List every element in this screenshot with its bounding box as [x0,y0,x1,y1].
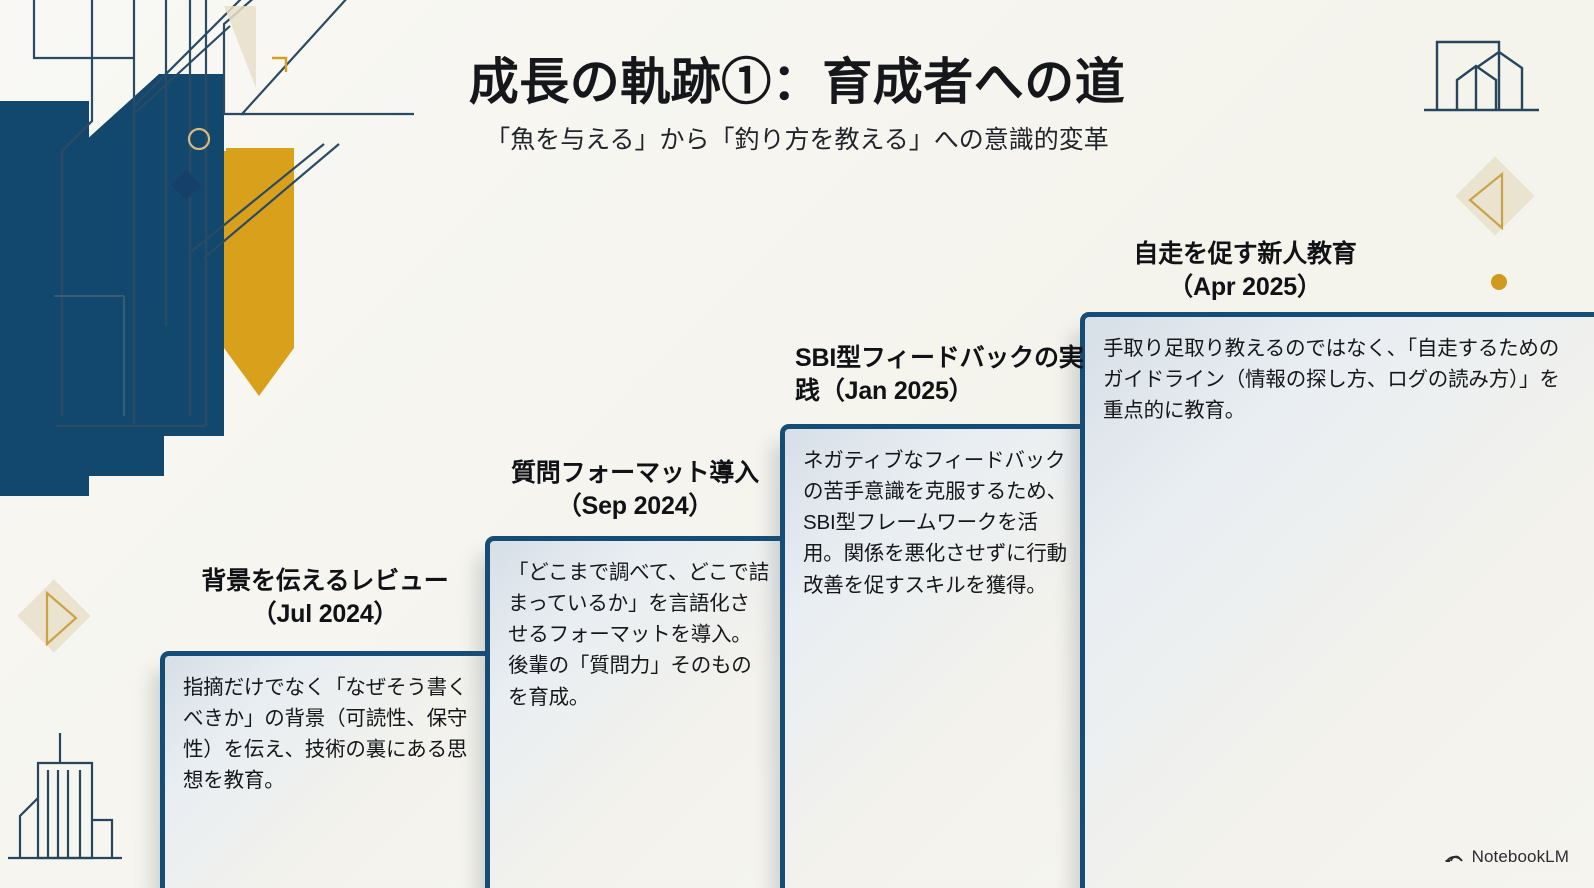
notebooklm-icon [1444,846,1465,868]
notebooklm-watermark: NotebookLM [1435,840,1580,874]
step-title-2: 質問フォーマット導入 [470,457,800,490]
slide-canvas: 成長の軌跡①：育成者への道 「魚を与える」から「釣り方を教える」への意識的変革 … [0,0,1594,888]
slide-header: 成長の軌跡①：育成者への道 「魚を与える」から「釣り方を教える」への意識的変革 [0,52,1594,156]
step-block-2[interactable]: 「どこまで調べて、どこで詰まっているか」を言語化させるフォーマットを導入。後輩の… [485,536,785,888]
step-block-3[interactable]: ネガティブなフィードバックの苦手意識を克服するため、SBI型フレームワークを活用… [780,424,1085,888]
step-body-3: ネガティブなフィードバックの苦手意識を克服するため、SBI型フレームワークを活用… [785,429,1085,601]
step-heading-1: 背景を伝えるレビュー （Jul 2024） [160,565,490,632]
step-body-4: 手取り足取り教えるのではなく、「自走するためのガイドライン（情報の探し方、ログの… [1085,317,1594,426]
step-date-1: （Jul 2024） [160,598,490,631]
step-heading-4: 自走を促す新人教育 （Apr 2025） [1080,238,1410,305]
step-title-1: 背景を伝えるレビュー [160,565,490,598]
step-title-4: 自走を促す新人教育 [1080,238,1410,271]
step-body-1: 指摘だけでなく「なぜそう書くべきか」の背景（可読性、保守性）を伝え、技術の裏にあ… [165,656,490,797]
step-body-2: 「どこまで調べて、どこで詰まっているか」を言語化させるフォーマットを導入。後輩の… [490,541,785,713]
step-date-2: （Sep 2024） [470,490,800,523]
step-heading-2: 質問フォーマット導入 （Sep 2024） [470,457,800,524]
page-title: 成長の軌跡①：育成者への道 [0,52,1594,111]
notebooklm-label: NotebookLM [1472,847,1569,867]
step-date-3: （Jan 2025） [820,377,974,405]
page-subtitle: 「魚を与える」から「釣り方を教える」への意識的変革 [0,120,1594,156]
step-block-1[interactable]: 指摘だけでなく「なぜそう書くべきか」の背景（可読性、保守性）を伝え、技術の裏にあ… [160,651,490,888]
step-heading-3: SBI型フィードバックの実践（Jan 2025） [795,342,1087,409]
step-block-4[interactable]: 手取り足取り教えるのではなく、「自走するためのガイドライン（情報の探し方、ログの… [1080,312,1594,888]
step-date-4: （Apr 2025） [1080,271,1410,304]
